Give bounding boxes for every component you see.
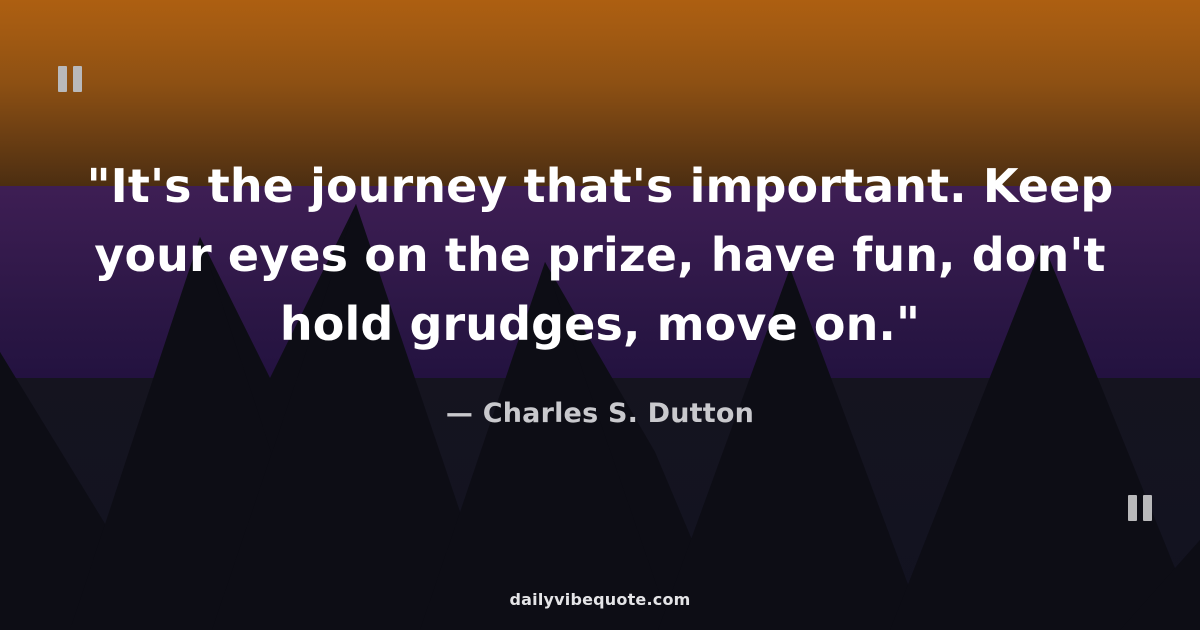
site-watermark: dailyvibequote.com xyxy=(509,590,690,609)
quote-author: — Charles S. Dutton xyxy=(446,398,754,429)
quote-text: "It's the journey that's important. Keep… xyxy=(55,152,1145,359)
quote-card: "It's the journey that's important. Keep… xyxy=(0,0,1200,630)
quote-content: "It's the journey that's important. Keep… xyxy=(0,0,1200,630)
